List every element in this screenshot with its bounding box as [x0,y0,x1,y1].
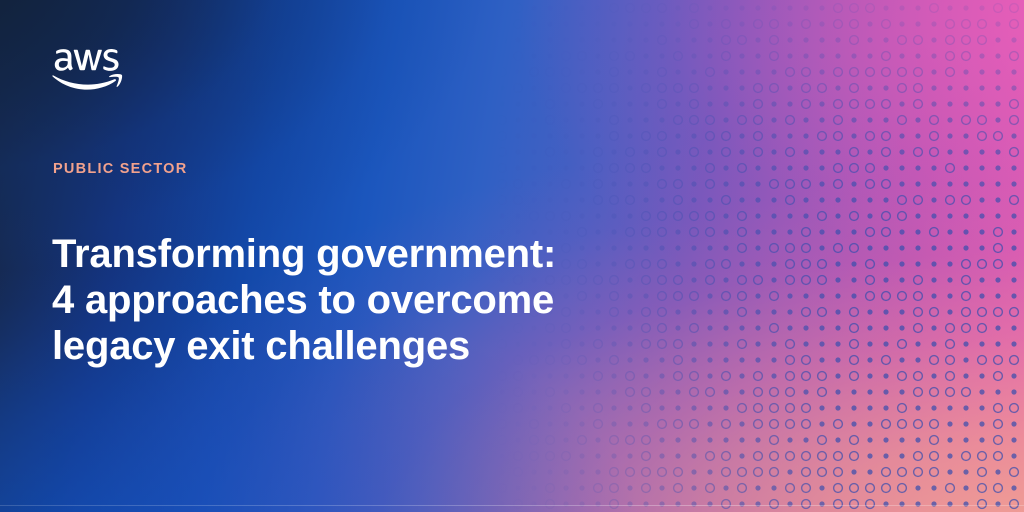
aws-logo[interactable] [52,40,148,96]
headline-line-2: 4 approaches to overcome [52,277,672,323]
headline-line-3: legacy exit challenges [52,323,672,369]
eyebrow-label: PUBLIC SECTOR [53,160,187,178]
aws-public-sector-banner: PUBLIC SECTOR Transforming government: 4… [0,0,1024,512]
headline-line-1: Transforming government: [52,231,672,277]
page-title: Transforming government: 4 approaches to… [52,231,672,369]
banner-content: PUBLIC SECTOR Transforming government: 4… [52,0,692,512]
